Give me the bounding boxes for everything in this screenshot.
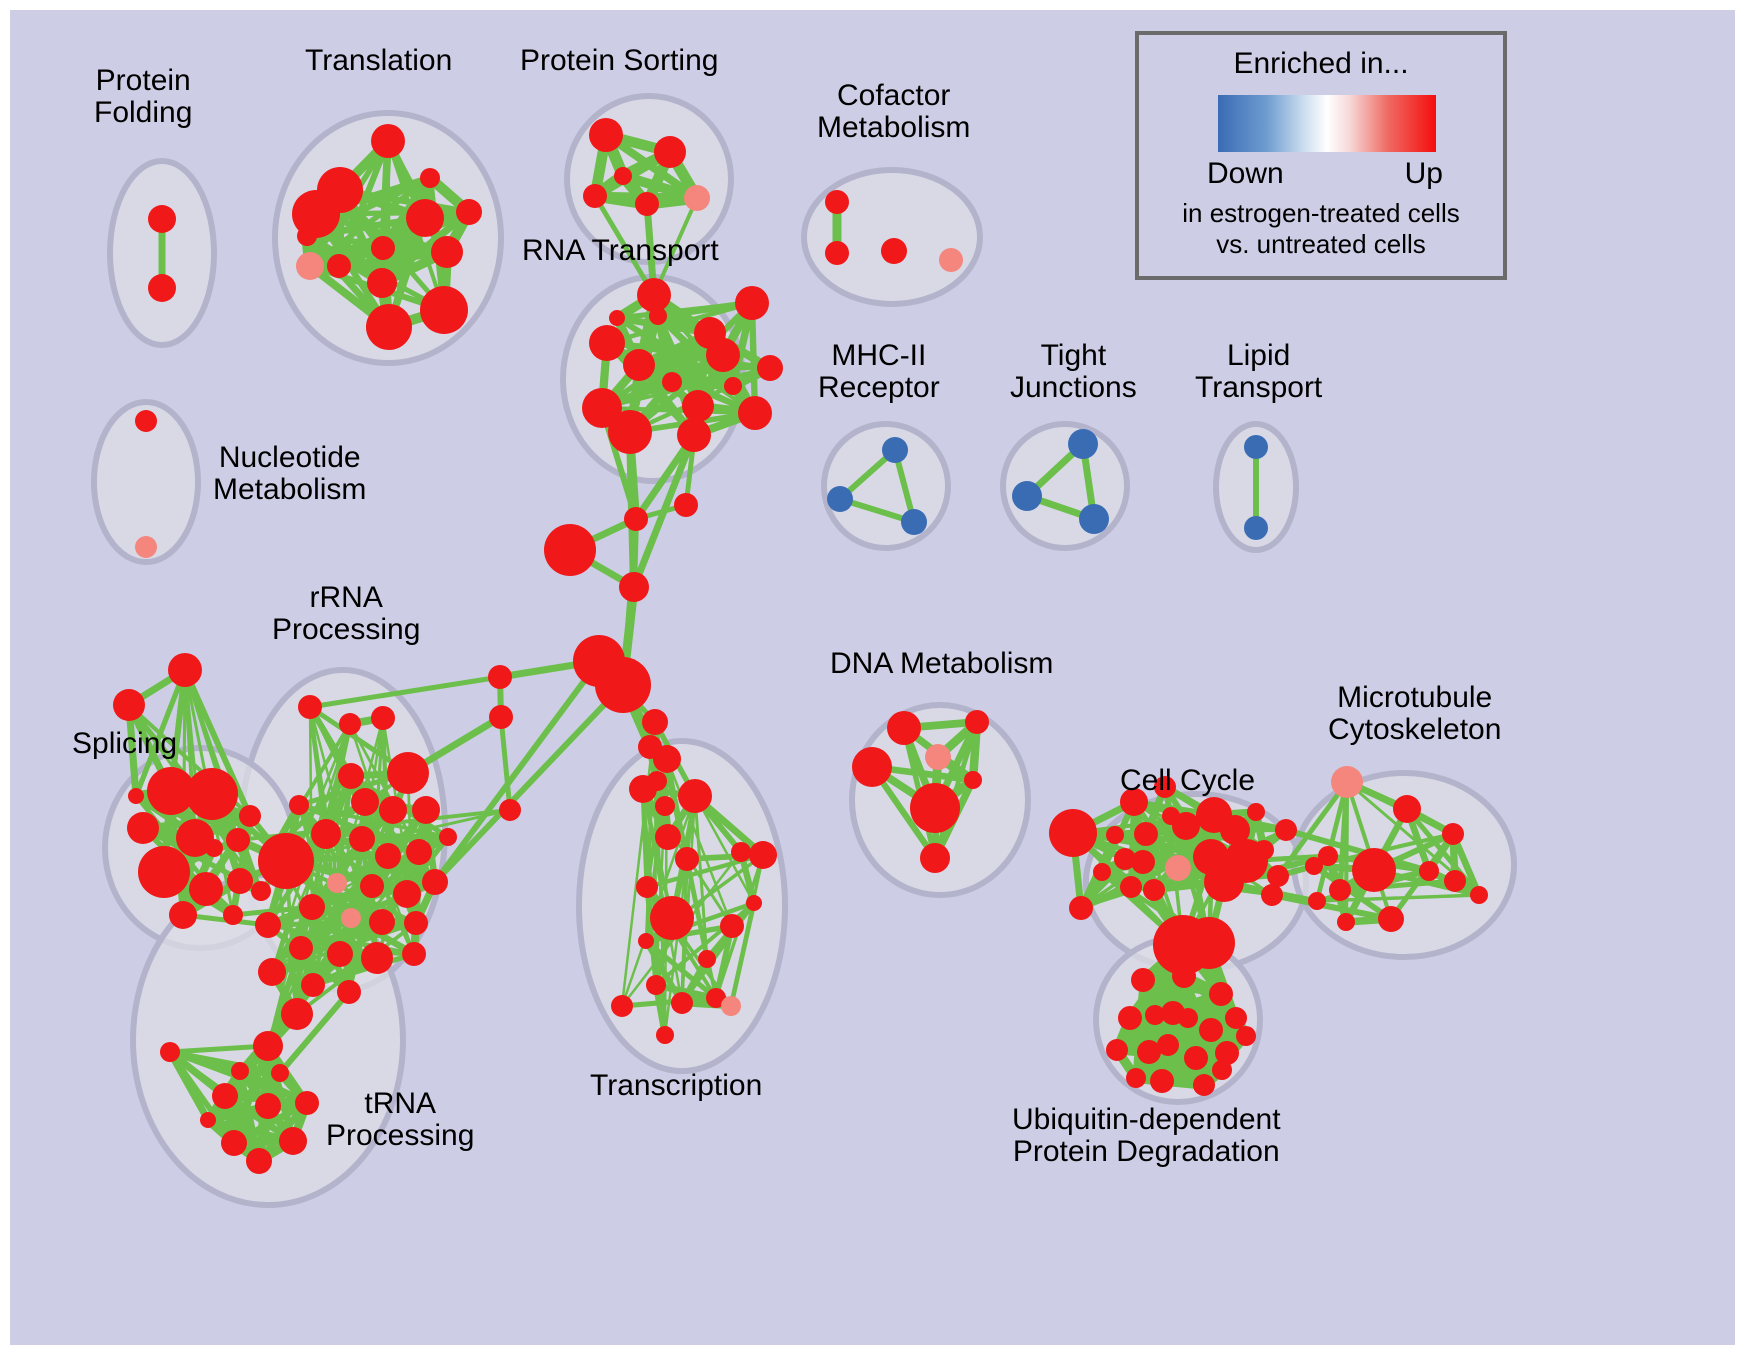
network-node[interactable] [1093, 863, 1111, 881]
network-node[interactable] [135, 536, 157, 558]
network-node[interactable] [1069, 896, 1093, 920]
cluster-label-cofactor-metabolism: Cofactor Metabolism [817, 80, 970, 144]
network-node[interactable] [724, 377, 742, 395]
network-node[interactable] [295, 1091, 319, 1115]
network-node[interactable] [619, 572, 649, 602]
network-node[interactable] [827, 486, 853, 512]
network-node[interactable] [1118, 1006, 1142, 1030]
network-node[interactable] [1134, 822, 1158, 846]
network-node[interactable] [609, 310, 625, 326]
network-node[interactable] [678, 779, 712, 813]
network-node[interactable] [488, 665, 512, 689]
network-node[interactable] [674, 493, 698, 517]
network-node[interactable] [255, 1093, 281, 1119]
network-node[interactable] [589, 325, 625, 361]
network-node[interactable] [289, 936, 313, 960]
network-node[interactable] [910, 783, 960, 833]
network-node[interactable] [1114, 848, 1136, 870]
cluster-label-splicing: Splicing [72, 728, 177, 760]
network-node[interactable] [1120, 876, 1142, 898]
network-node[interactable] [271, 1064, 289, 1082]
network-node[interactable] [186, 768, 238, 820]
network-node[interactable] [1143, 879, 1165, 901]
network-figure-canvas: Protein Folding Translation Protein Sort… [10, 10, 1735, 1345]
network-node[interactable] [1247, 803, 1265, 821]
network-node[interactable] [402, 942, 426, 966]
network-node[interactable] [649, 307, 667, 325]
network-node[interactable] [205, 839, 223, 857]
network-node[interactable] [642, 709, 668, 735]
cluster-label-cell-cycle: Cell Cycle [1120, 765, 1255, 797]
network-node[interactable] [327, 873, 347, 893]
network-node[interactable] [1254, 840, 1274, 860]
network-node[interactable] [339, 713, 361, 735]
network-node[interactable] [341, 908, 361, 928]
network-node[interactable] [650, 896, 694, 940]
network-node[interactable] [1331, 766, 1363, 798]
network-node[interactable] [825, 190, 849, 214]
network-node[interactable] [614, 167, 632, 185]
network-node[interactable] [1126, 1068, 1146, 1088]
network-node[interactable] [360, 874, 384, 898]
cluster-label-protein-sorting: Protein Sorting [520, 45, 718, 77]
network-node[interactable] [1212, 1060, 1232, 1080]
legend-title: Enriched in... [1139, 47, 1503, 81]
network-node[interactable] [258, 958, 286, 986]
cluster-label-transcription: Transcription [590, 1070, 762, 1102]
network-node[interactable] [338, 763, 364, 789]
network-node[interactable] [720, 914, 744, 938]
network-node[interactable] [148, 205, 176, 233]
network-node[interactable] [1236, 1026, 1256, 1046]
network-node[interactable] [223, 905, 243, 925]
network-node[interactable] [887, 711, 921, 745]
cluster-label-nucleotide-metabolism: Nucleotide Metabolism [213, 442, 366, 506]
network-node[interactable] [1079, 504, 1109, 534]
network-node[interactable] [1261, 884, 1283, 906]
network-node[interactable] [371, 706, 395, 730]
network-node[interactable] [1444, 870, 1466, 892]
color-scale-gradient-bar [1218, 95, 1436, 152]
network-node[interactable] [671, 992, 693, 1014]
network-node[interactable] [369, 909, 395, 935]
cluster-label-rrna-processing: rRNA Processing [272, 582, 420, 646]
network-node[interactable] [169, 901, 197, 929]
network-node[interactable] [735, 286, 769, 320]
network-node[interactable] [637, 278, 671, 312]
network-node[interactable] [420, 286, 468, 334]
network-node[interactable] [1442, 823, 1464, 845]
network-node[interactable] [731, 842, 751, 862]
network-node[interactable] [965, 710, 989, 734]
network-node[interactable] [422, 869, 448, 895]
network-node[interactable] [160, 1042, 180, 1062]
network-node[interactable] [289, 795, 309, 815]
network-node[interactable] [227, 868, 253, 894]
network-node[interactable] [299, 894, 325, 920]
network-node[interactable] [1419, 861, 1439, 881]
network-node[interactable] [1162, 807, 1180, 825]
cluster-label-dna-metabolism: DNA Metabolism [830, 648, 1053, 680]
network-node[interactable] [298, 695, 322, 719]
network-node[interactable] [706, 338, 740, 372]
network-node[interactable] [489, 705, 513, 729]
network-node[interactable] [738, 396, 772, 430]
network-node[interactable] [746, 895, 762, 911]
network-node[interactable] [221, 1130, 247, 1156]
network-node[interactable] [757, 355, 783, 381]
network-node[interactable] [301, 973, 325, 997]
network-node[interactable] [646, 975, 666, 995]
network-node[interactable] [337, 980, 361, 1004]
legend-down-label: Down [1207, 157, 1284, 191]
network-node[interactable] [1106, 826, 1124, 844]
network-node[interactable] [297, 226, 317, 246]
network-node[interactable] [128, 788, 144, 804]
network-node[interactable] [281, 998, 313, 1030]
network-node[interactable] [393, 880, 421, 908]
network-node[interactable] [655, 824, 681, 850]
network-node[interactable] [420, 168, 440, 188]
network-node[interactable] [647, 771, 667, 791]
network-node[interactable] [1275, 819, 1297, 841]
network-node[interactable] [375, 843, 401, 869]
network-node[interactable] [327, 941, 353, 967]
cluster-label-trna-processing: tRNA Processing [326, 1088, 474, 1152]
network-node[interactable] [1199, 1018, 1223, 1042]
cluster-label-microtubule-cytoskeleton: Microtubule Cytoskeleton [1328, 682, 1501, 746]
network-node[interactable] [1267, 865, 1289, 887]
network-node[interactable] [279, 1127, 307, 1155]
network-node[interactable] [749, 841, 777, 869]
cluster-label-translation: Translation [305, 45, 452, 77]
network-node[interactable] [327, 254, 351, 278]
network-node[interactable] [920, 843, 950, 873]
network-node[interactable] [1209, 982, 1233, 1006]
network-node[interactable] [1244, 516, 1268, 540]
network-node[interactable] [379, 796, 407, 824]
network-node[interactable] [200, 1112, 216, 1128]
network-node[interactable] [499, 799, 521, 821]
network-node[interactable] [1012, 481, 1042, 511]
network-node[interactable] [371, 236, 395, 260]
network-node[interactable] [212, 1083, 238, 1109]
network-node[interactable] [406, 839, 432, 865]
network-node[interactable] [595, 657, 651, 713]
network-node[interactable] [239, 805, 261, 827]
network-node[interactable] [684, 185, 710, 211]
network-node[interactable] [264, 839, 284, 859]
network-node[interactable] [583, 184, 607, 208]
network-edge [435, 661, 599, 882]
network-node[interactable] [431, 236, 463, 268]
network-node[interactable] [251, 881, 271, 901]
network-node[interactable] [635, 192, 659, 216]
network-node[interactable] [655, 796, 675, 816]
cluster-label-lipid-transport: Lipid Transport [1195, 340, 1322, 404]
network-node[interactable] [311, 819, 341, 849]
network-node[interactable] [258, 833, 314, 889]
network-node[interactable] [825, 241, 849, 265]
network-node[interactable] [1352, 848, 1396, 892]
network-node[interactable] [638, 933, 654, 949]
cluster-label-protein-folding: Protein Folding [94, 65, 192, 129]
network-node[interactable] [1329, 879, 1351, 901]
network-node[interactable] [387, 752, 429, 794]
network-node[interactable] [677, 418, 711, 452]
network-node[interactable] [901, 509, 927, 535]
network-node[interactable] [148, 274, 176, 302]
network-node[interactable] [1337, 913, 1355, 931]
network-node[interactable] [351, 788, 379, 816]
network-node[interactable] [636, 876, 658, 898]
network-node[interactable] [127, 812, 159, 844]
network-node[interactable] [253, 1031, 283, 1061]
network-node[interactable] [654, 136, 686, 168]
network-node[interactable] [189, 872, 223, 906]
network-node[interactable] [168, 653, 202, 687]
network-node[interactable] [1204, 862, 1244, 902]
network-node[interactable] [1244, 435, 1268, 459]
network-node[interactable] [1157, 1034, 1179, 1056]
network-node[interactable] [608, 410, 652, 454]
network-node[interactable] [1145, 1005, 1165, 1025]
network-node[interactable] [371, 124, 405, 158]
network-node[interactable] [113, 689, 145, 721]
network-node[interactable] [544, 524, 596, 576]
network-node[interactable] [656, 1026, 674, 1044]
legend-box: Enriched in... Down Up in estrogen-treat… [1135, 31, 1507, 280]
network-node[interactable] [1049, 809, 1097, 857]
network-node[interactable] [1131, 968, 1155, 992]
network-node[interactable] [138, 846, 190, 898]
network-node[interactable] [406, 199, 444, 237]
legend-up-label: Up [1405, 157, 1443, 191]
network-node[interactable] [349, 826, 375, 852]
network-node[interactable] [852, 747, 892, 787]
network-node[interactable] [456, 199, 482, 225]
network-node[interactable] [246, 1148, 272, 1174]
network-node[interactable] [925, 744, 951, 770]
network-node[interactable] [1470, 886, 1488, 904]
network-node[interactable] [226, 828, 250, 852]
legend-subtitle: in estrogen-treated cells vs. untreated … [1139, 198, 1503, 259]
network-node[interactable] [721, 996, 741, 1016]
network-node[interactable] [964, 771, 982, 789]
network-node[interactable] [296, 252, 324, 280]
network-node[interactable] [1393, 795, 1421, 823]
cluster-ellipse-cofactor-metabolism [804, 170, 980, 304]
network-node[interactable] [611, 995, 633, 1017]
network-node[interactable] [231, 1062, 249, 1080]
network-node[interactable] [404, 911, 428, 935]
network-node[interactable] [367, 268, 397, 298]
network-node[interactable] [1378, 906, 1404, 932]
network-node[interactable] [682, 390, 714, 422]
network-node[interactable] [412, 796, 440, 824]
network-node[interactable] [135, 410, 157, 432]
network-node[interactable] [255, 912, 281, 938]
network-node[interactable] [1193, 1074, 1215, 1096]
network-node[interactable] [675, 847, 699, 871]
network-node[interactable] [439, 828, 457, 846]
cluster-label-mhc-ii-receptor: MHC-II Receptor [818, 340, 940, 404]
network-node[interactable] [1106, 1039, 1128, 1061]
network-node[interactable] [1165, 855, 1191, 881]
network-node[interactable] [1178, 1008, 1198, 1028]
network-node[interactable] [881, 238, 907, 264]
network-node[interactable] [939, 248, 963, 272]
network-node[interactable] [361, 942, 393, 974]
cluster-label-tight-junctions: Tight Junctions [1010, 340, 1137, 404]
network-node[interactable] [623, 349, 655, 381]
network-node[interactable] [638, 735, 662, 759]
network-node[interactable] [698, 950, 716, 968]
network-node[interactable] [624, 507, 648, 531]
network-node[interactable] [1150, 1069, 1174, 1093]
network-node[interactable] [366, 304, 412, 350]
network-node[interactable] [1172, 964, 1196, 988]
network-node[interactable] [882, 437, 908, 463]
cluster-label-ubiquitin-protein-degradation: Ubiquitin-dependent Protein Degradation [1012, 1104, 1281, 1168]
network-node[interactable] [1305, 857, 1323, 875]
network-node[interactable] [589, 118, 623, 152]
network-node[interactable] [1068, 429, 1098, 459]
network-node[interactable] [1184, 1046, 1208, 1070]
network-node[interactable] [662, 372, 682, 392]
network-node[interactable] [1308, 892, 1326, 910]
network-node[interactable] [1225, 1007, 1247, 1029]
cluster-label-rna-transport: RNA Transport [522, 235, 719, 267]
network-node[interactable] [1183, 917, 1235, 969]
